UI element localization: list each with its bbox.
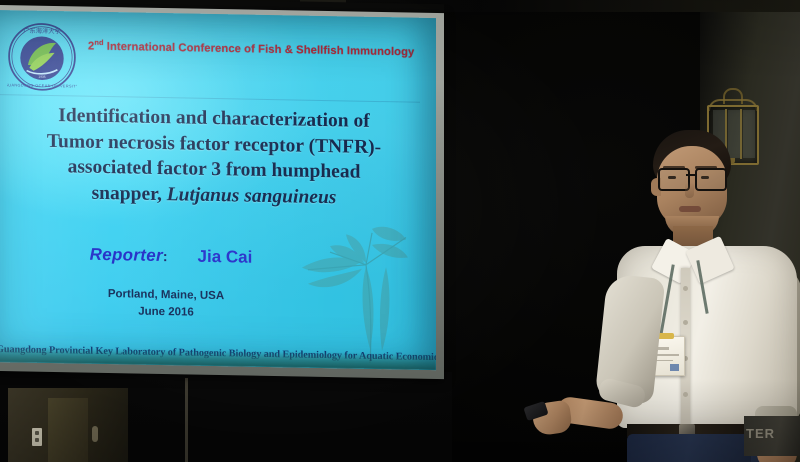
title-line-4-prefix: snapper, xyxy=(92,182,167,204)
shirt-button xyxy=(683,286,688,291)
presenter-mouth xyxy=(679,206,701,212)
presentation-photo-scene: 广东海洋大学 GUANGDONG OCEAN UNIVERSITY 1935 2… xyxy=(0,0,800,462)
header-ordinal-suffix: nd xyxy=(94,38,103,47)
slide-date: June 2016 xyxy=(6,303,326,321)
svg-text:1935: 1935 xyxy=(38,75,45,79)
shirt-button xyxy=(683,320,688,325)
presenter-person xyxy=(505,118,795,462)
glasses-bridge xyxy=(686,174,696,176)
guangdong-ocean-university-logo-icon: 广东海洋大学 GUANGDONG OCEAN UNIVERSITY 1935 xyxy=(7,21,77,92)
electrical-outlet xyxy=(32,428,42,446)
glasses-right-lens xyxy=(695,168,727,191)
badge-logo xyxy=(670,364,679,371)
slide-location: Portland, Maine, USA xyxy=(6,286,326,304)
svg-text:GUANGDONG OCEAN UNIVERSITY: GUANGDONG OCEAN UNIVERSITY xyxy=(7,83,77,88)
slide-header: 2nd International Conference of Fish & S… xyxy=(88,38,428,59)
reporter-row: Reporter:Jia Cai xyxy=(6,243,336,269)
reporter-name: Jia Cai xyxy=(198,247,253,267)
door-inner-panel xyxy=(48,398,88,462)
door-knob xyxy=(92,426,98,442)
slide-title: Identification and characterization of T… xyxy=(6,102,422,212)
shirt-button xyxy=(683,392,688,397)
reporter-label: Reporter xyxy=(90,245,163,265)
vertical-post xyxy=(185,378,188,462)
species-name-italic: Lutjanus sanguineus xyxy=(167,184,337,208)
projected-slide: 广东海洋大学 GUANGDONG OCEAN UNIVERSITY 1935 2… xyxy=(0,10,436,370)
header-divider xyxy=(0,94,420,103)
reporter-colon: : xyxy=(163,248,168,264)
presenter-nose xyxy=(685,182,694,198)
header-text: International Conference of Fish & Shell… xyxy=(104,41,415,59)
wall-sign: TER xyxy=(744,416,800,456)
wall-sign-text: TER xyxy=(746,426,775,441)
